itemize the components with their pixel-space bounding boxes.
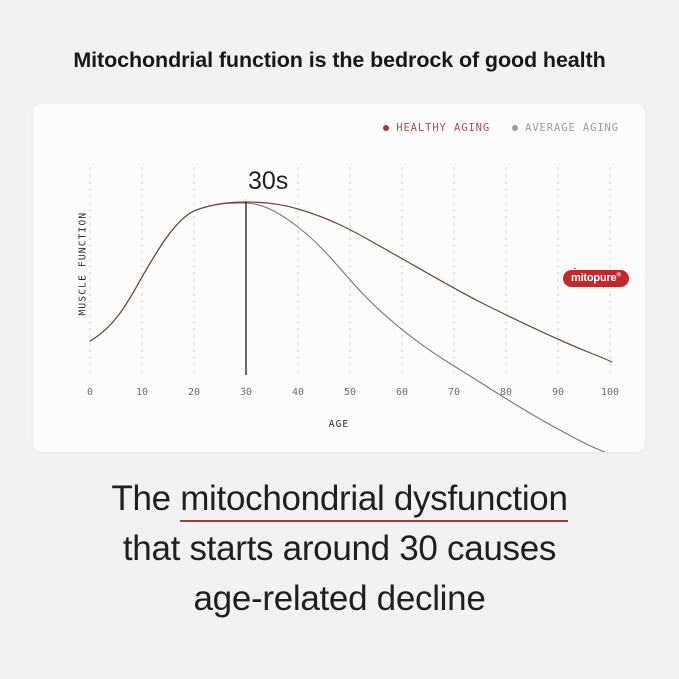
x-tick-label: 0 bbox=[87, 387, 93, 398]
x-tick-label: 60 bbox=[396, 387, 408, 398]
series-line-healthy-aging bbox=[90, 202, 612, 362]
plot-area: 30s mitopure® MUSCLE FUNCTION 0 10 20 30… bbox=[33, 104, 645, 452]
peak-annotation-label: 30s bbox=[248, 167, 288, 196]
mitopure-badge-label: mitopure bbox=[571, 272, 616, 284]
x-tick-label: 20 bbox=[188, 387, 200, 398]
caption-line-1: The mitochondrial dysfunction bbox=[0, 474, 679, 524]
x-tick-label: 70 bbox=[448, 387, 460, 398]
x-tick-label: 100 bbox=[601, 387, 619, 398]
caption-emphasis: mitochondrial dysfunction bbox=[180, 479, 567, 522]
y-axis-title: MUSCLE FUNCTION bbox=[78, 296, 89, 316]
x-axis-ticks: 0 10 20 30 40 50 60 70 80 90 100 bbox=[33, 387, 645, 401]
page-title: Mitochondrial function is the bedrock of… bbox=[0, 48, 679, 73]
x-tick-label: 90 bbox=[552, 387, 564, 398]
x-axis-title: AGE bbox=[33, 419, 645, 430]
mitopure-badge: mitopure® bbox=[562, 269, 630, 288]
x-tick-label: 80 bbox=[500, 387, 512, 398]
caption-line-3: age-related decline bbox=[0, 574, 679, 624]
caption-line-2: that starts around 30 causes bbox=[0, 524, 679, 574]
registered-mark-icon: ® bbox=[616, 272, 620, 278]
caption-block: The mitochondrial dysfunction that start… bbox=[0, 474, 679, 624]
x-tick-label: 50 bbox=[344, 387, 356, 398]
x-tick-label: 30 bbox=[240, 387, 252, 398]
x-tick-label: 40 bbox=[292, 387, 304, 398]
x-tick-label: 10 bbox=[136, 387, 148, 398]
caption-line-1-prefix: The bbox=[111, 479, 180, 518]
gridlines bbox=[90, 167, 610, 375]
chart-card: HEALTHY AGING AVERAGE AGING bbox=[33, 104, 645, 452]
